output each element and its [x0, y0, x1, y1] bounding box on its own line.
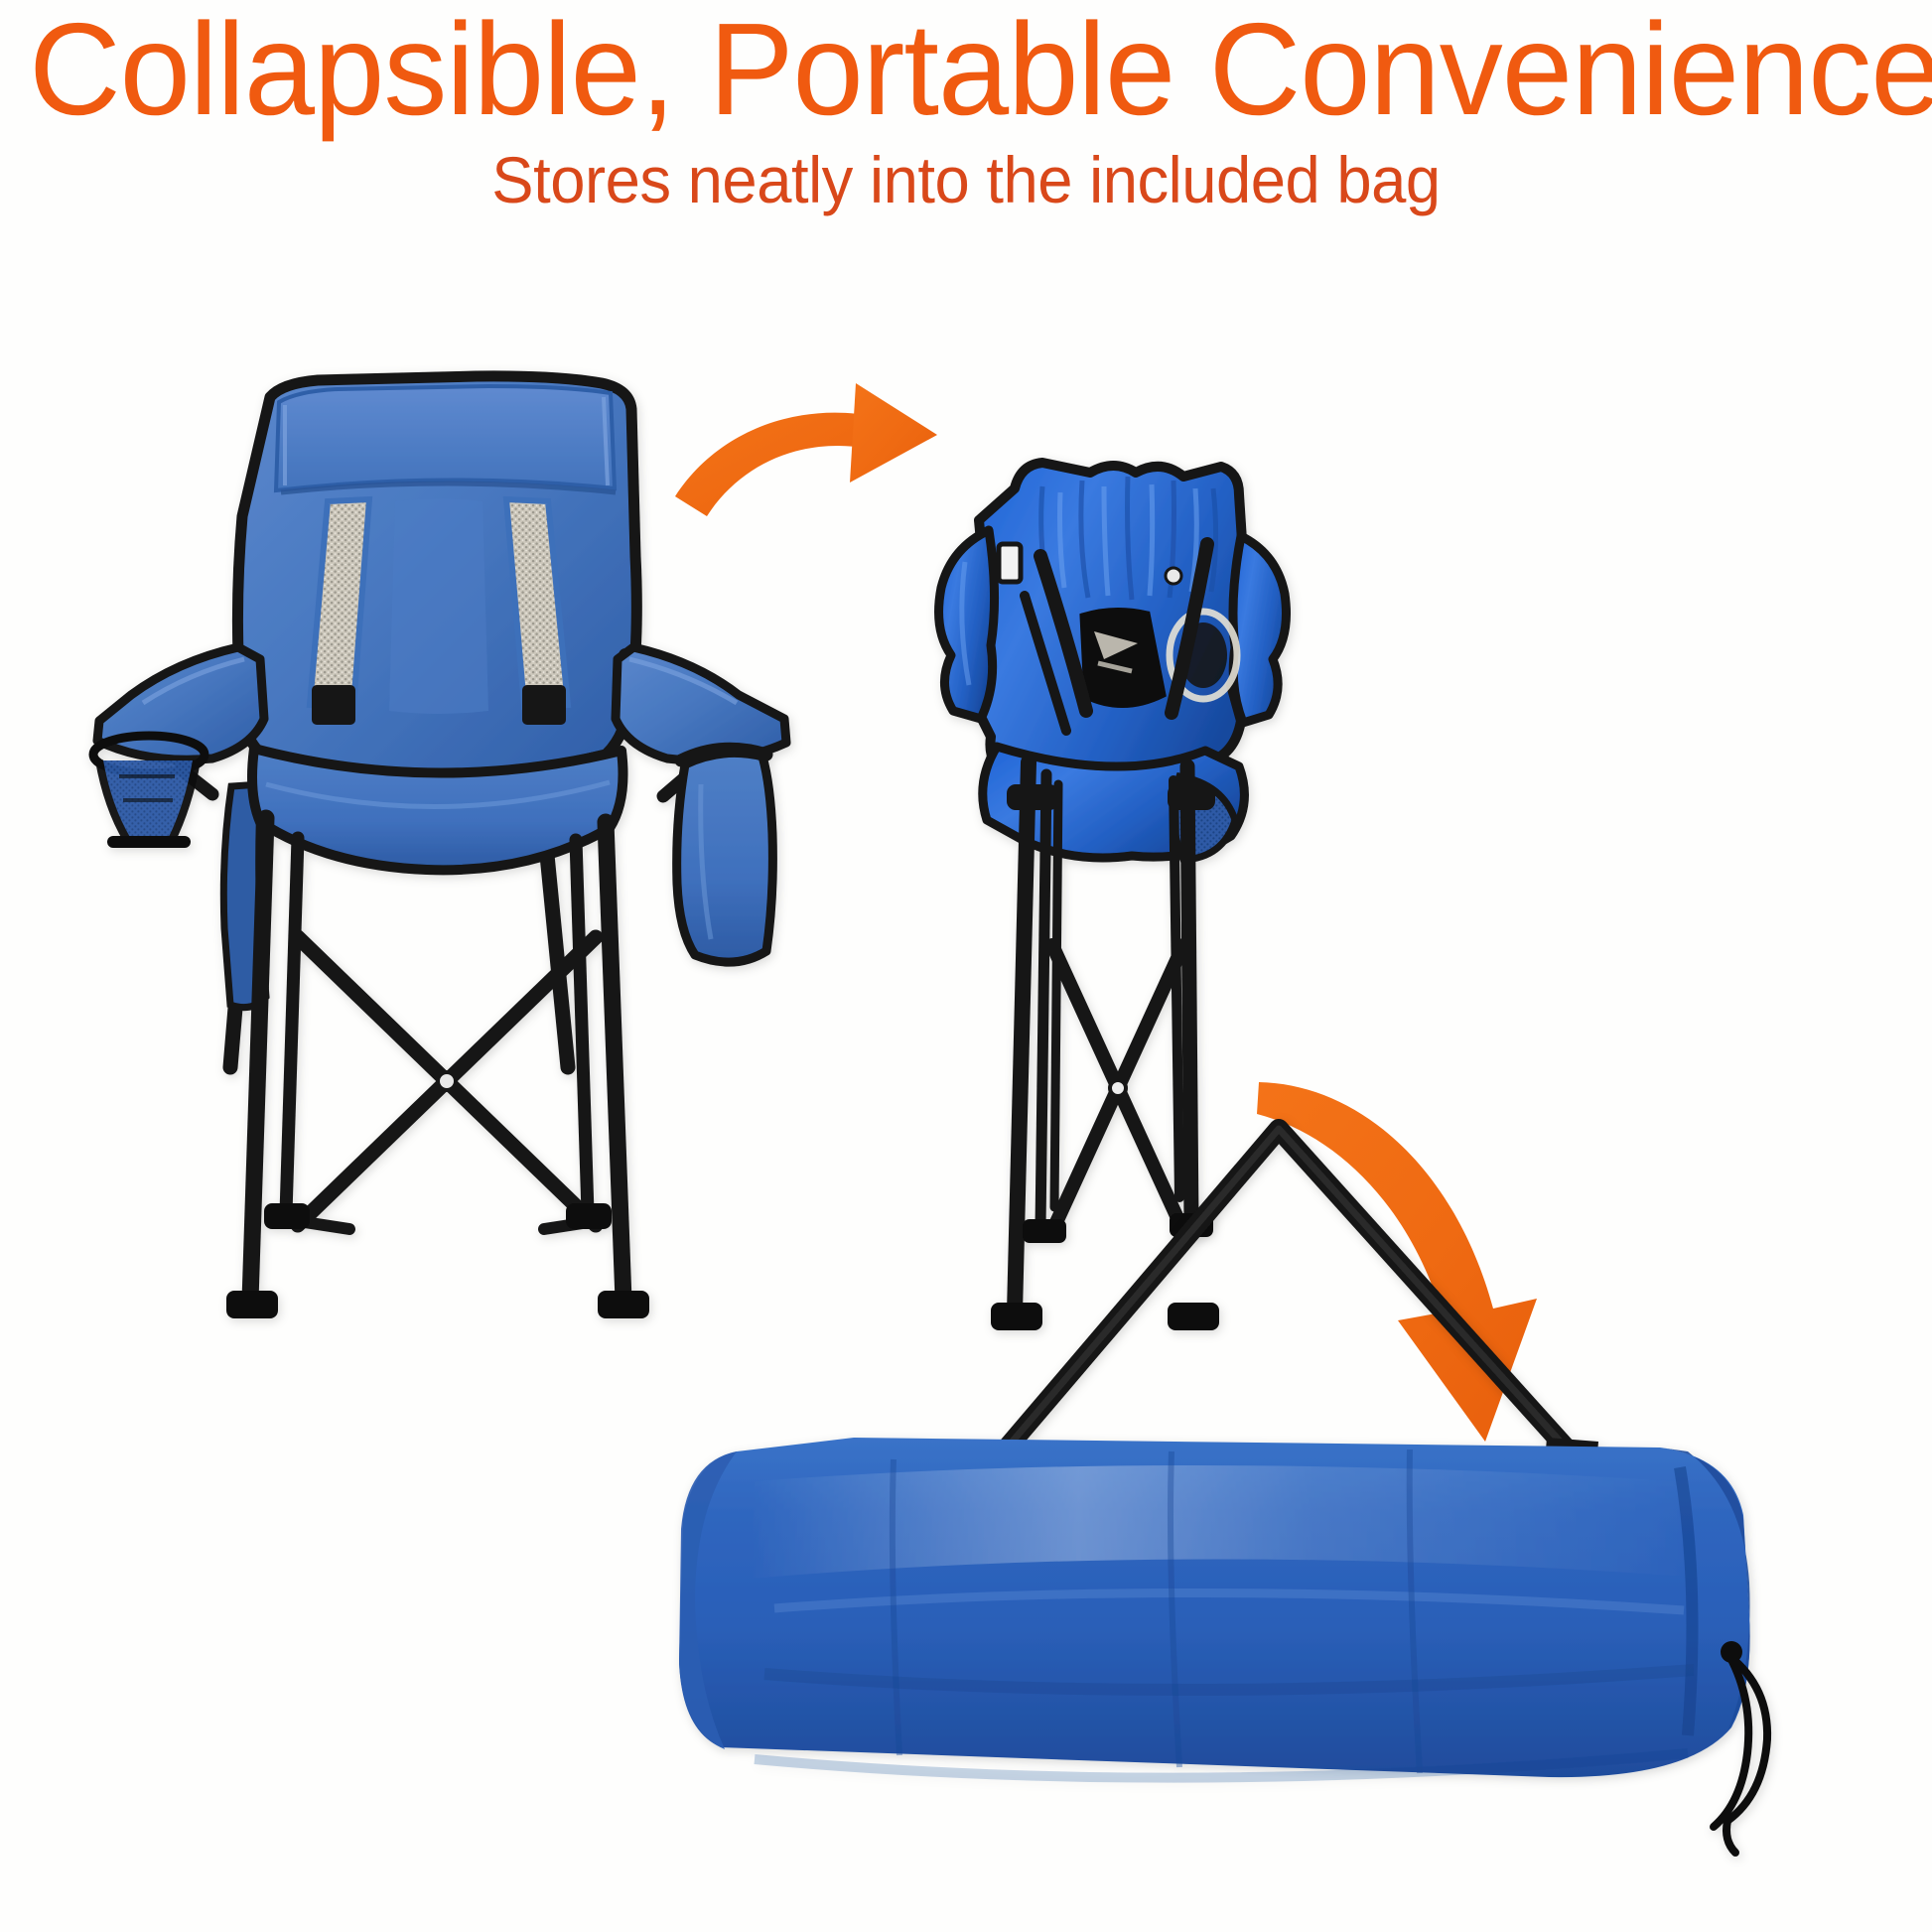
- folded-rivet-upper: [1166, 568, 1181, 584]
- figure-carry-bag: [679, 1129, 1767, 1853]
- armrest-left: [97, 647, 264, 794]
- armrest-right: [616, 647, 786, 796]
- side-pouch-left: [223, 784, 266, 1008]
- x-brace-pivot: [438, 1072, 456, 1090]
- page-title: Collapsible, Portable Convenience: [29, 4, 1903, 135]
- bag-drawstring-cord: [1714, 1656, 1767, 1853]
- mesh-strap-right: [522, 685, 566, 725]
- chair-foot-caps: [226, 1203, 649, 1318]
- cup-holder-left: [93, 736, 205, 842]
- folded-joint-clamps: [1007, 784, 1215, 810]
- figure-open-chair: [93, 376, 786, 1318]
- arrow-2-folded-to-bag: [1257, 1082, 1537, 1442]
- folded-skirt: [983, 747, 1245, 858]
- folded-frame-tubes-upper: [1025, 544, 1207, 731]
- page-subtitle: Stores neatly into the included bag: [39, 147, 1893, 212]
- folded-fabric-creases: [1041, 477, 1216, 600]
- figure-folded-chair: [939, 463, 1287, 1330]
- mesh-strap-left: [312, 685, 355, 725]
- folded-fabric-highlights: [1060, 484, 1197, 596]
- folded-cupholder-trim: [1082, 610, 1164, 705]
- product-illustration-scene: [0, 0, 1932, 1932]
- infographic-canvas: Collapsible, Portable Convenience Stores…: [0, 0, 1932, 1932]
- folded-wing-right: [1233, 536, 1287, 723]
- bag-body: [679, 1438, 1750, 1777]
- folded-buckle: [999, 544, 1021, 582]
- arrow-1-chair-to-folded: [675, 383, 937, 516]
- bag-sheen: [751, 1465, 1688, 1579]
- chair-seat: [252, 749, 623, 870]
- bag-shoulder-strap: [993, 1129, 1575, 1464]
- folded-mesh-patch: [1173, 776, 1235, 860]
- folded-foot-caps: [991, 1213, 1219, 1330]
- bag-cord-lock: [1721, 1641, 1742, 1663]
- side-cooler-pouch-right: [677, 753, 773, 962]
- folded-x-brace-pivot: [1110, 1080, 1126, 1096]
- pouch-rim-right: [681, 749, 766, 760]
- chair-backrest-shell: [237, 376, 636, 775]
- bag-drawstring-gather: [1680, 1467, 1693, 1735]
- chair-frame-legs: [250, 818, 623, 1301]
- folded-cupholder-ring: [1170, 612, 1237, 699]
- folded-bundle-body: [967, 463, 1255, 812]
- mesh-panel-left: [310, 499, 369, 707]
- bag-cap-right: [1660, 1448, 1750, 1731]
- folded-wing-left: [939, 530, 995, 719]
- bag-strap-anchor-right: [1543, 1438, 1598, 1491]
- mesh-panel-right: [506, 499, 568, 707]
- bag-cap-left: [679, 1451, 737, 1749]
- chair-head-panel: [276, 386, 615, 490]
- bag-fabric-folds: [893, 1449, 1420, 1773]
- bag-strap-anchor-left: [969, 1440, 1027, 1493]
- chair-rear-legs: [230, 794, 568, 1067]
- folded-chair-legs: [1015, 762, 1191, 1312]
